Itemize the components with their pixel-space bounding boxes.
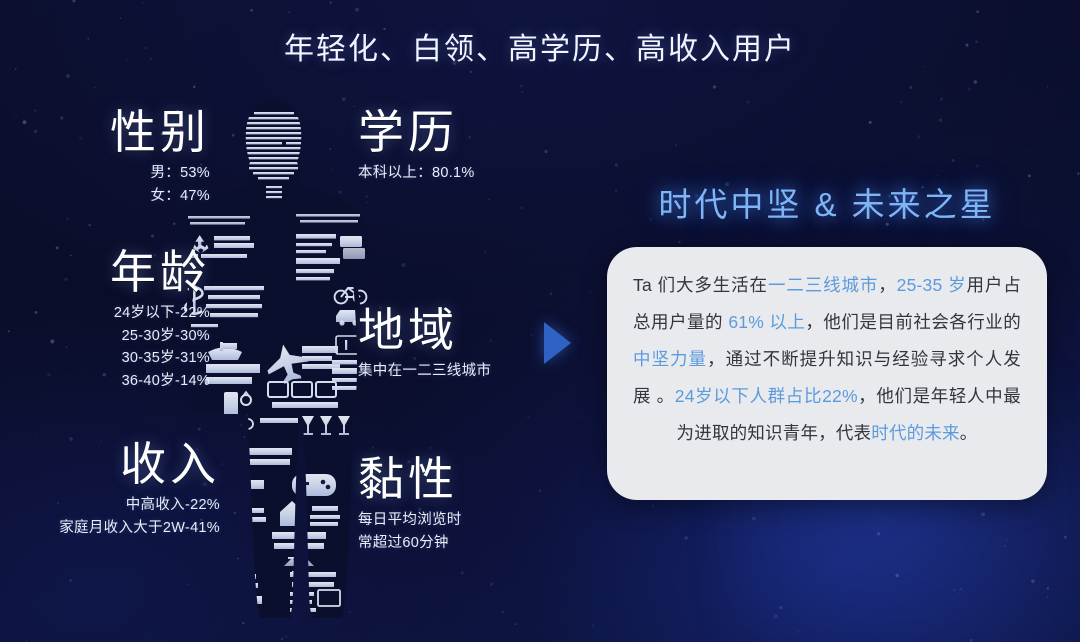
stat-education: 学历 本科以上：80.1% (358, 108, 558, 185)
slide-canvas: 年轻化、白领、高学历、高收入用户 (0, 0, 1080, 642)
summary-paragraph: Ta 们大多生活在一二三线城市，25-35 岁用户占总用户量的 61% 以上，他… (633, 267, 1021, 452)
stat-income-values: 中高收入-22% 家庭月收入大于2W-41% (0, 494, 220, 539)
stat-line: 36-40岁-14% (6, 370, 210, 392)
stat-line: 男：53% (26, 162, 210, 184)
highlighted-text: 24岁以下人群占比 (675, 386, 822, 406)
stat-line: 每日平均浏览时 (358, 509, 558, 531)
right-panel-title: 时代中坚 & 未来之星 (607, 178, 1047, 226)
stat-region-title: 地域 (358, 306, 558, 354)
stat-stickiness-values: 每日平均浏览时 常超过60分钟 (358, 509, 558, 554)
stat-gender-values: 男：53% 女：47% (26, 162, 210, 207)
stat-age-values: 24岁以下-22% 25-30岁-30% 30-35岁-31% 36-40岁-1… (6, 302, 210, 392)
stat-stickiness-title: 黏性 (358, 455, 558, 503)
highlighted-text: 以上 (764, 312, 805, 332)
stat-education-title: 学历 (358, 108, 558, 156)
stat-gender-title: 性别 (26, 108, 210, 156)
stat-line: 集中在一二三线城市 (358, 360, 558, 382)
body-text: ， (878, 275, 896, 295)
stat-line: 30-35岁-31% (6, 347, 210, 369)
highlighted-text: 61% (728, 312, 764, 332)
stat-region: 地域 集中在一二三线城市 (358, 306, 558, 383)
stat-gender: 性别 男：53% 女：47% (26, 108, 210, 207)
stat-income-title: 收入 (0, 440, 220, 488)
play-triangle-icon (544, 322, 571, 364)
highlighted-text: 25-35 岁 (897, 275, 967, 295)
highlighted-text: 22% (822, 386, 858, 406)
stat-age-title: 年龄 (6, 248, 210, 296)
stat-line: 常超过60分钟 (358, 532, 558, 554)
stat-line: 女：47% (26, 185, 210, 207)
stat-line: 25-30岁-30% (6, 325, 210, 347)
summary-card: Ta 们大多生活在一二三线城市，25-35 岁用户占总用户量的 61% 以上，他… (607, 247, 1047, 500)
stat-line: 家庭月收入大于2W-41% (0, 517, 220, 539)
page-title: 年轻化、白领、高学历、高收入用户 (0, 24, 1080, 68)
body-text: 。 (960, 423, 978, 443)
highlighted-text: 时代的未来 (871, 423, 960, 443)
stat-line: 中高收入-22% (0, 494, 220, 516)
stat-line: 24岁以下-22% (6, 302, 210, 324)
stat-stickiness: 黏性 每日平均浏览时 常超过60分钟 (358, 455, 558, 554)
body-text: Ta 们大多生活在 (633, 275, 768, 295)
highlighted-text: 中坚力量 (633, 349, 707, 369)
stat-region-values: 集中在一二三线城市 (358, 360, 558, 382)
stat-education-values: 本科以上：80.1% (358, 162, 558, 184)
stat-line: 本科以上：80.1% (358, 162, 558, 184)
stat-income: 收入 中高收入-22% 家庭月收入大于2W-41% (0, 440, 220, 539)
stat-age: 年龄 24岁以下-22% 25-30岁-30% 30-35岁-31% 36-40… (6, 248, 210, 392)
highlighted-text: 一二三线城市 (768, 275, 878, 295)
body-text: ，他们是目前社会各行业的 (805, 312, 1021, 332)
